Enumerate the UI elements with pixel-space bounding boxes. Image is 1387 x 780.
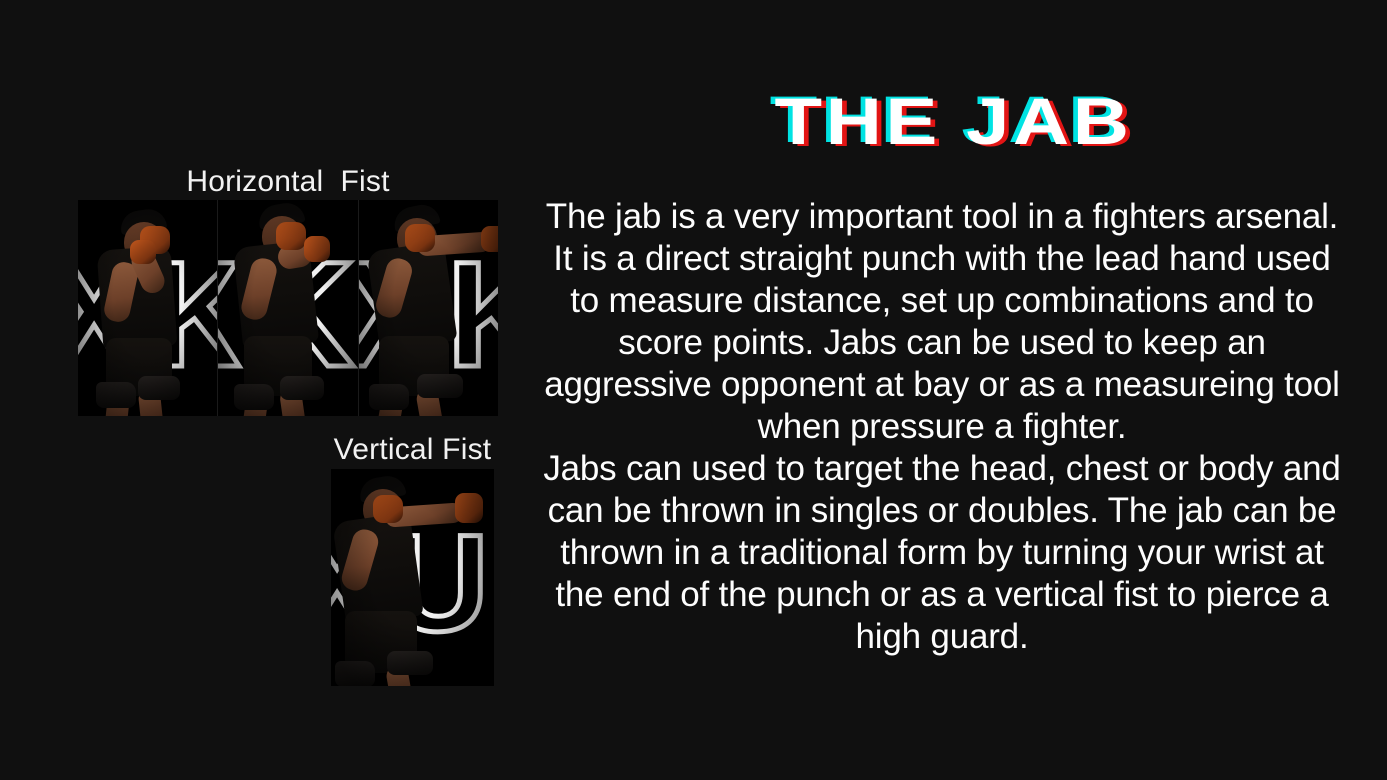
horizontal-fist-frame-1: XKX bbox=[78, 200, 218, 416]
boxer-figure bbox=[359, 200, 498, 416]
boxer-figure bbox=[331, 469, 494, 686]
slide-root: Horizontal Fist XKX bbox=[0, 0, 1387, 780]
content-column: THE JAB The jab is a very important tool… bbox=[520, 0, 1387, 780]
horizontal-fist-frame-2: XKX bbox=[218, 200, 358, 416]
horizontal-fist-photo-strip: XKX bbox=[78, 200, 498, 416]
page-title: THE JAB bbox=[442, 88, 1387, 154]
boxer-figure bbox=[218, 200, 357, 416]
vertical-fist-caption: Vertical Fist bbox=[331, 433, 494, 467]
horizontal-fist-frame-3: XKX bbox=[359, 200, 498, 416]
boxer-figure bbox=[78, 200, 217, 416]
horizontal-fist-caption: Horizontal Fist bbox=[78, 165, 498, 199]
body-paragraphs: The jab is a very important tool in a fi… bbox=[542, 196, 1342, 658]
vertical-fist-photo: XUN bbox=[331, 469, 494, 686]
